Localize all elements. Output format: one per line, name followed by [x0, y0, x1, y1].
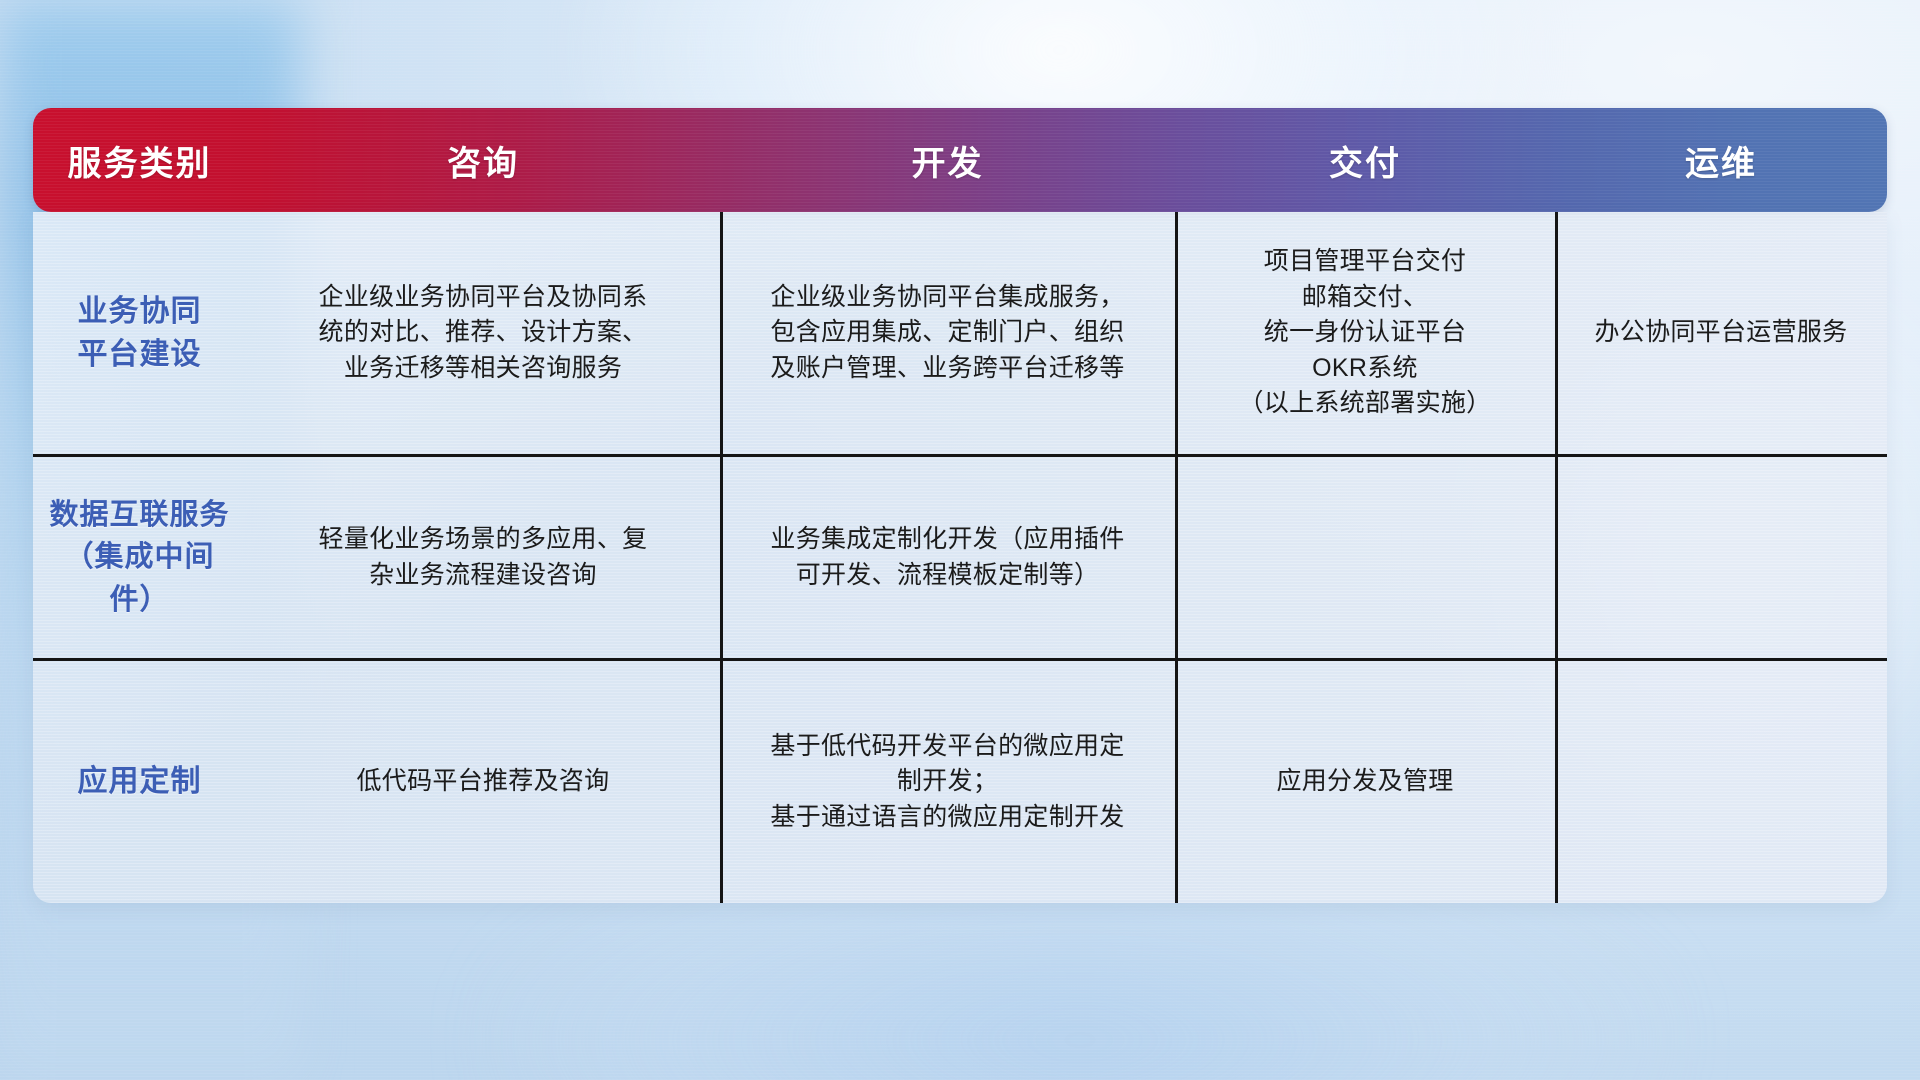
header-operations: 运维: [1555, 136, 1887, 185]
row-category-cell: 数据互联服务 （集成中间件）: [33, 457, 246, 658]
row-operations-cell: [1555, 457, 1887, 658]
table-body: 业务协同 平台建设 企业级业务协同平台及协同系 统的对比、推荐、设计方案、 业务…: [33, 212, 1887, 903]
row-consulting-cell: 轻量化业务场景的多应用、复 杂业务流程建设咨询: [246, 457, 720, 658]
table-row: 数据互联服务 （集成中间件） 轻量化业务场景的多应用、复 杂业务流程建设咨询 业…: [33, 454, 1887, 658]
cell-text: 轻量化业务场景的多应用、复 杂业务流程建设咨询: [319, 522, 648, 593]
row-category-cell: 业务协同 平台建设: [33, 212, 246, 454]
row-development-cell: 企业级业务协同平台集成服务， 包含应用集成、定制门户、组织 及账户管理、业务跨平…: [720, 212, 1175, 454]
row-operations-cell: 办公协同平台运营服务: [1555, 212, 1887, 454]
cell-text: 应用分发及管理: [1276, 764, 1453, 800]
category-label: 应用定制: [78, 760, 202, 804]
row-development-cell: 基于低代码开发平台的微应用定 制开发； 基于通过语言的微应用定制开发: [720, 661, 1175, 903]
cell-text: 企业级业务协同平台集成服务， 包含应用集成、定制门户、组织 及账户管理、业务跨平…: [770, 280, 1124, 387]
cell-text: 业务集成定制化开发（应用插件 可开发、流程模板定制等）: [770, 522, 1124, 593]
header-delivery: 交付: [1175, 136, 1555, 185]
row-consulting-cell: 低代码平台推荐及咨询: [246, 661, 720, 903]
row-category-cell: 应用定制: [33, 661, 246, 903]
category-label: 数据互联服务 （集成中间件）: [49, 494, 230, 620]
category-label: 业务协同 平台建设: [78, 290, 202, 377]
table-row: 应用定制 低代码平台推荐及咨询 基于低代码开发平台的微应用定 制开发； 基于通过…: [33, 658, 1887, 903]
cell-text: 基于低代码开发平台的微应用定 制开发； 基于通过语言的微应用定制开发: [770, 729, 1124, 836]
header-consulting: 咨询: [246, 136, 720, 185]
header-service-category: 服务类别: [33, 136, 246, 185]
cell-text: 办公协同平台运营服务: [1594, 315, 1847, 351]
row-operations-cell: [1555, 661, 1887, 903]
table-row: 业务协同 平台建设 企业级业务协同平台及协同系 统的对比、推荐、设计方案、 业务…: [33, 212, 1887, 454]
row-delivery-cell: 应用分发及管理: [1175, 661, 1555, 903]
header-development: 开发: [720, 136, 1175, 185]
row-delivery-cell: [1175, 457, 1555, 658]
cell-text: 项目管理平台交付 邮箱交付、 统一身份认证平台 OKR系统 （以上系统部署实施）: [1238, 244, 1491, 422]
row-consulting-cell: 企业级业务协同平台及协同系 统的对比、推荐、设计方案、 业务迁移等相关咨询服务: [246, 212, 720, 454]
row-delivery-cell: 项目管理平台交付 邮箱交付、 统一身份认证平台 OKR系统 （以上系统部署实施）: [1175, 212, 1555, 454]
cell-text: 低代码平台推荐及咨询: [356, 764, 609, 800]
row-development-cell: 业务集成定制化开发（应用插件 可开发、流程模板定制等）: [720, 457, 1175, 658]
service-matrix-table: 服务类别 咨询 开发 交付 运维 业务协同 平台建设 企业级业务协同平台及协同系…: [33, 108, 1887, 903]
cell-text: 企业级业务协同平台及协同系 统的对比、推荐、设计方案、 业务迁移等相关咨询服务: [319, 280, 648, 387]
table-header-row: 服务类别 咨询 开发 交付 运维: [33, 108, 1887, 212]
